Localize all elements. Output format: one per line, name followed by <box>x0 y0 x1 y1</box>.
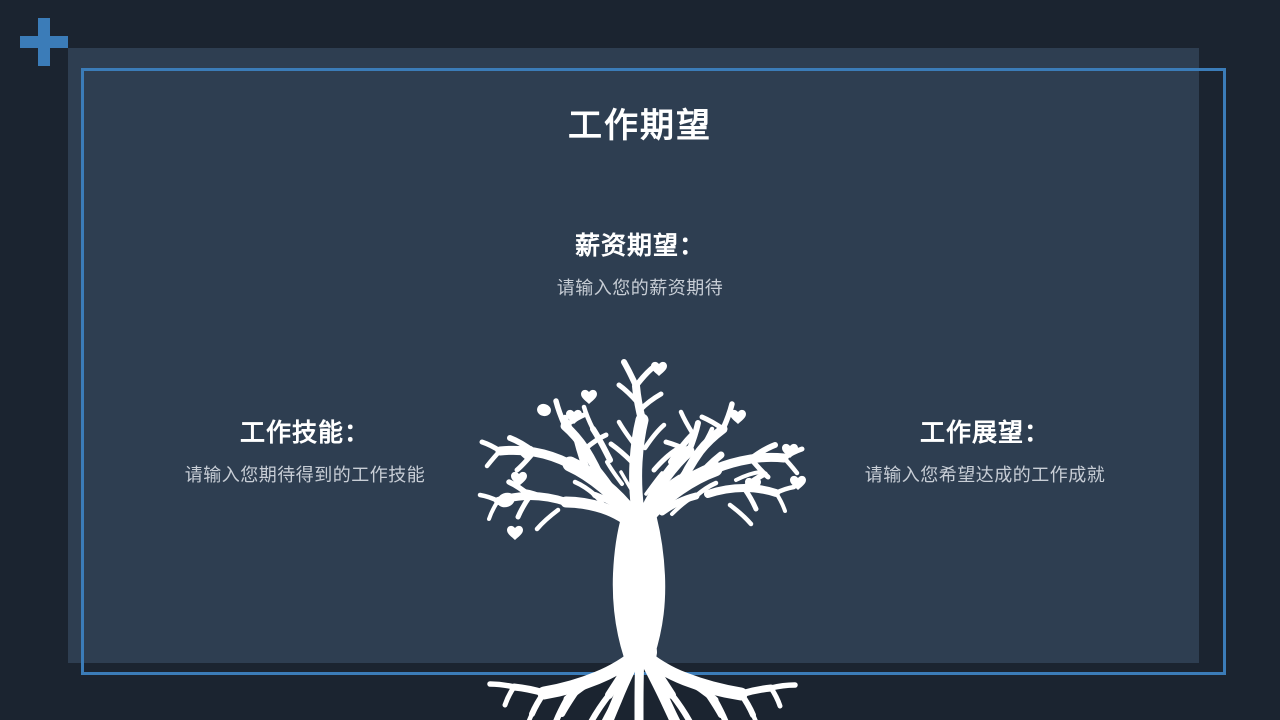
work-skills-block: 工作技能： 请输入您期待得到的工作技能 <box>110 413 500 487</box>
presentation-slide: 工作期望 薪资期望： 请输入您的薪资期待 工作技能： 请输入您期待得到的工作技能… <box>0 0 1280 720</box>
salary-expectation-block: 薪资期望： 请输入您的薪资期待 <box>390 226 890 300</box>
work-outlook-block: 工作展望： 请输入您希望达成的工作成就 <box>790 413 1180 487</box>
salary-body: 请输入您的薪资期待 <box>390 274 890 300</box>
outlook-heading: 工作展望： <box>790 413 1180 449</box>
plus-mark-icon <box>20 18 68 66</box>
skills-body: 请输入您期待得到的工作技能 <box>110 461 500 487</box>
page-title: 工作期望 <box>0 98 1280 147</box>
plus-horizontal-bar <box>20 36 68 48</box>
salary-heading: 薪资期望： <box>390 226 890 262</box>
skills-heading: 工作技能： <box>110 413 500 449</box>
outlook-body: 请输入您希望达成的工作成就 <box>790 461 1180 487</box>
